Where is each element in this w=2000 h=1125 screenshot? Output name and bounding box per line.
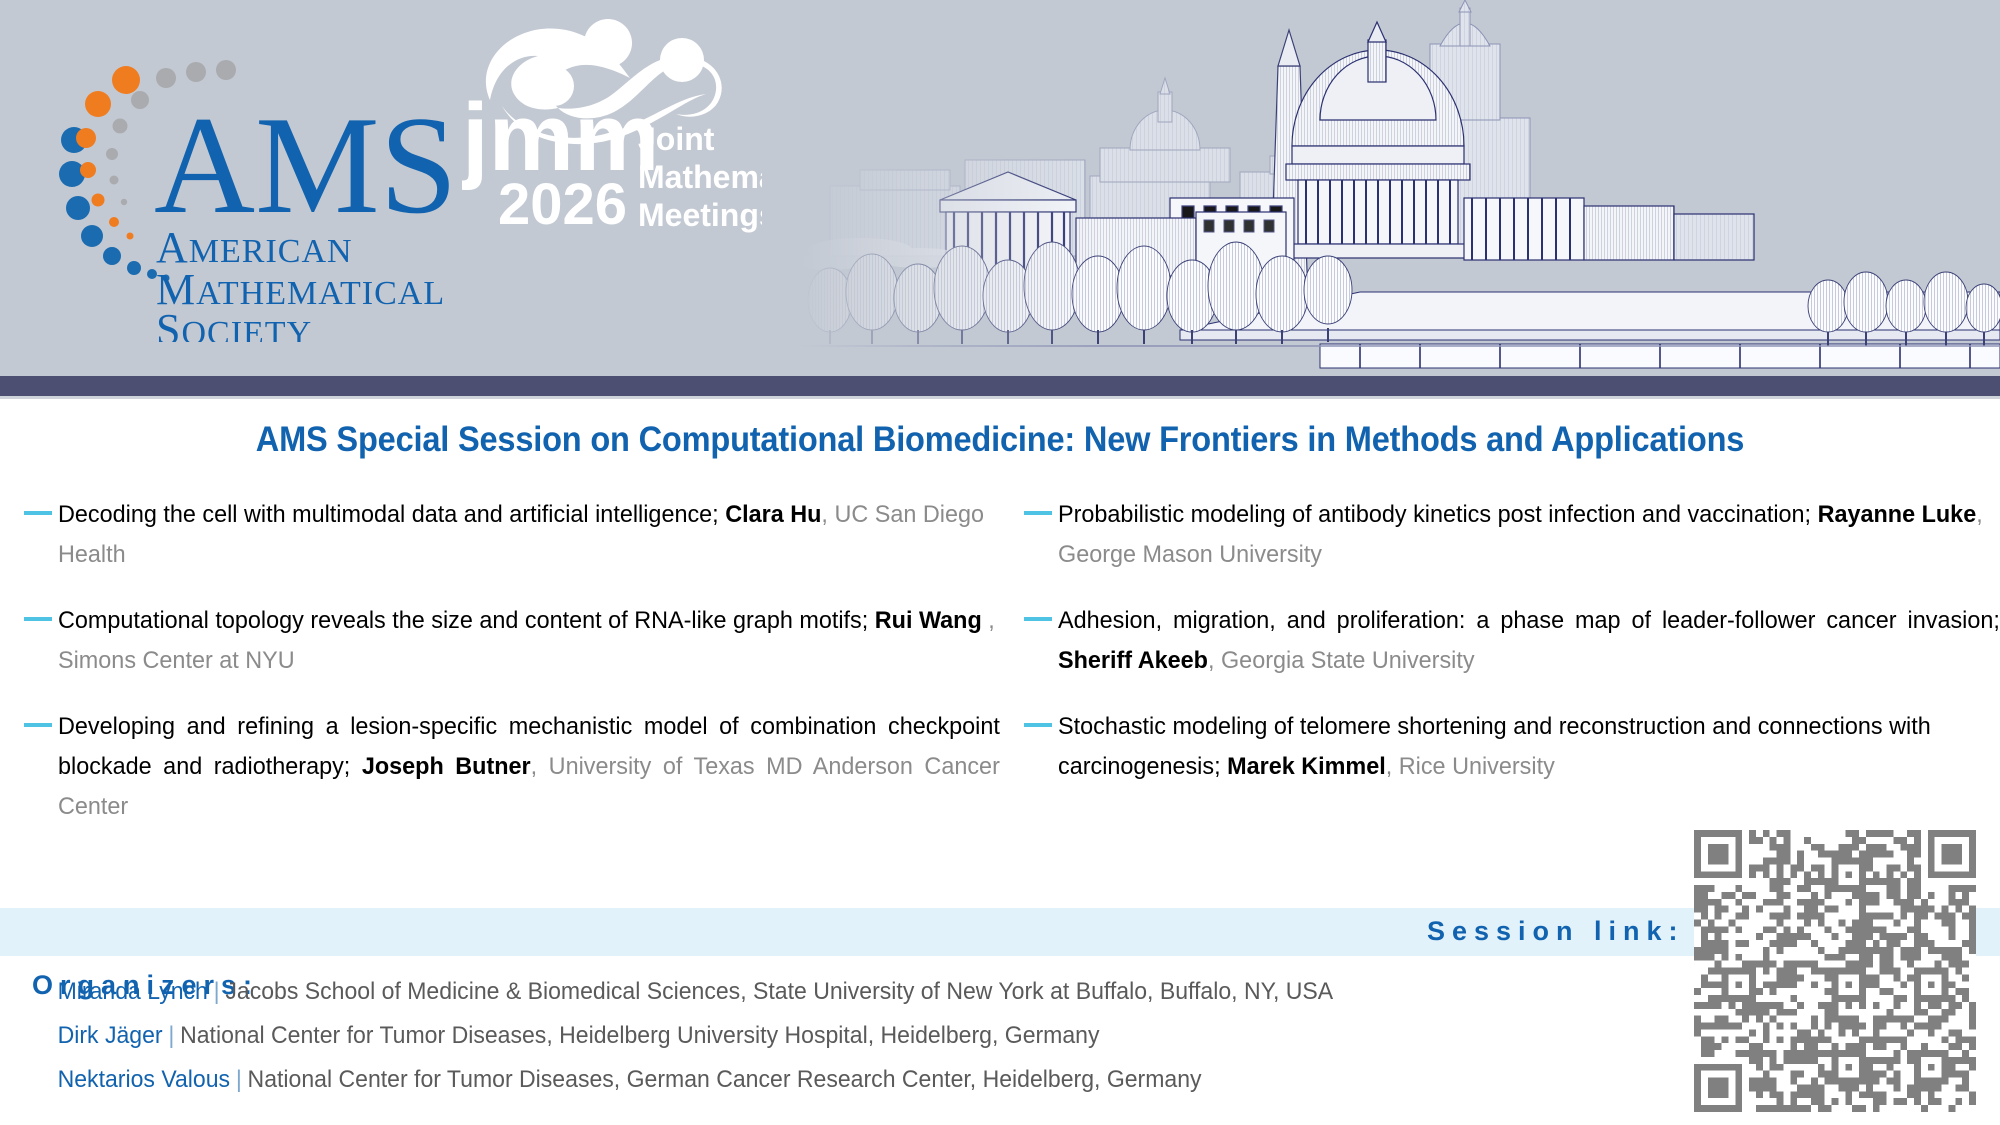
talk-affiliation: Simons Center at NYU	[58, 647, 295, 674]
talk-speaker: Rui Wang	[875, 607, 989, 634]
organizer-pipe: |	[163, 1022, 181, 1049]
talk-affiliation: Rice University	[1399, 753, 1555, 780]
organizer-affiliation: National Center for Tumor Diseases, Germ…	[248, 1066, 1202, 1093]
organizer-pipe: |	[208, 978, 226, 1005]
talk-title: Computational topology reveals the size …	[58, 607, 868, 634]
header-banner: AMS AMERICAN MATHEMATICAL SOCIETY jmm 20…	[0, 0, 2000, 376]
jmm-name-line1: Joint	[638, 121, 715, 157]
jmm-year: 2026	[498, 172, 627, 233]
talk-text: Stochastic modeling of telomere shorteni…	[1058, 707, 2000, 787]
dash-bullet-icon	[1024, 723, 1052, 727]
jmm-name-line2: Mathematics	[638, 159, 762, 195]
organizer-row: Dirk Jäger|National Center for Tumor Dis…	[0, 1014, 1632, 1058]
talk-speaker: Sheriff Akeeb	[1058, 647, 1208, 674]
talk-separator: ,	[1976, 501, 1983, 528]
session-link-heading: Session link:	[1427, 916, 1685, 947]
jmm-name-line3: Meetings	[638, 197, 762, 233]
organizer-name: Nektarios Valous	[58, 1066, 230, 1093]
organizer-affiliation: National Center for Tumor Diseases, Heid…	[180, 1022, 1099, 1049]
dash-bullet-icon	[1024, 511, 1052, 515]
talks-column-right: Probabilistic modeling of antibody kinet…	[1010, 495, 2000, 813]
dash-bullet-icon	[24, 617, 52, 621]
talk-affiliation: Georgia State University	[1221, 647, 1475, 674]
dash-bullet-icon	[1024, 617, 1052, 621]
organizer-affiliation: Jacobs School of Medicine & Biomedical S…	[225, 978, 1333, 1005]
organizer-name: Dirk Jäger	[58, 1022, 163, 1049]
talk-text: Developing and refining a lesion-specifi…	[58, 707, 1000, 827]
talk-item: Probabilistic modeling of antibody kinet…	[1010, 495, 2000, 575]
organizer-pipe: |	[230, 1066, 248, 1093]
talk-affiliation: George Mason University	[1058, 541, 1322, 568]
talk-title: Decoding the cell with multimodal data a…	[58, 501, 719, 528]
poster: AMS AMERICAN MATHEMATICAL SOCIETY jmm 20…	[0, 0, 2000, 1125]
talk-text: Adhesion, migration, and proliferation: …	[1058, 601, 2000, 681]
talk-speaker: Rayanne Luke	[1818, 501, 1977, 528]
talks-column-left: Decoding the cell with multimodal data a…	[10, 495, 1000, 853]
organizers-list: Miranda Lynch|Jacobs School of Medicine …	[0, 970, 1700, 1102]
talk-item: Computational topology reveals the size …	[10, 601, 1000, 681]
page-title: AMS Special Session on Computational Bio…	[70, 420, 1930, 460]
talk-text: Computational topology reveals the size …	[58, 601, 1000, 681]
talk-speaker: Marek Kimmel	[1227, 753, 1386, 780]
ams-line2: MATHEMATICAL	[156, 265, 445, 314]
talk-item: Adhesion, migration, and proliferation: …	[1010, 601, 2000, 681]
talk-separator: ,	[1208, 647, 1215, 674]
qr-code-icon[interactable]	[1694, 826, 1976, 1116]
ams-acronym: AMS	[154, 88, 457, 243]
talks-section: Decoding the cell with multimodal data a…	[0, 495, 2000, 875]
talk-item: Stochastic modeling of telomere shorteni…	[1010, 707, 2000, 787]
talk-speaker: Clara Hu	[725, 501, 821, 528]
talk-separator: ,	[821, 501, 828, 528]
header-separator-line	[0, 396, 2000, 399]
talk-separator: ,	[531, 753, 538, 780]
talk-item: Decoding the cell with multimodal data a…	[10, 495, 1000, 575]
talk-text: Decoding the cell with multimodal data a…	[58, 495, 1000, 575]
talk-text: Probabilistic modeling of antibody kinet…	[1058, 495, 2000, 575]
header-separator-bar	[0, 376, 2000, 396]
session-link-qr-code[interactable]	[1694, 826, 1976, 1116]
dash-bullet-icon	[24, 723, 52, 727]
dash-bullet-icon	[24, 511, 52, 515]
talk-separator: ,	[988, 607, 995, 634]
washington-dc-skyline-illustration	[800, 0, 2000, 376]
organizer-name: Miranda Lynch	[58, 978, 208, 1005]
organizer-row: Miranda Lynch|Jacobs School of Medicine …	[0, 970, 1632, 1014]
talk-title: Adhesion, migration, and proliferation: …	[1058, 607, 2000, 634]
talk-title: Probabilistic modeling of antibody kinet…	[1058, 501, 1811, 528]
organizer-row: Nektarios Valous|National Center for Tum…	[0, 1058, 1632, 1102]
talk-separator: ,	[1386, 753, 1393, 780]
talk-speaker: Joseph Butner	[362, 753, 531, 780]
talk-item: Developing and refining a lesion-specifi…	[10, 707, 1000, 827]
jmm-swirl-figures-logo: jmm 2026 Joint Mathematics Meetings	[462, 8, 762, 233]
